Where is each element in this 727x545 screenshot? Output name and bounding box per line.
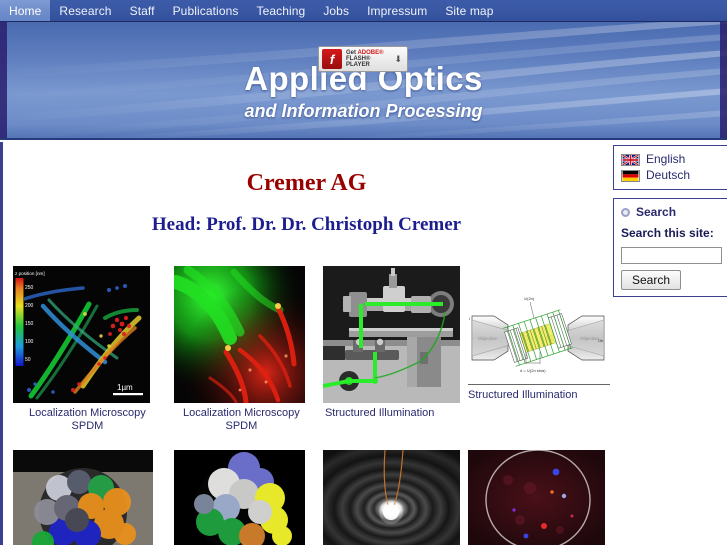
svg-text:λ/(2n): λ/(2n) <box>524 296 535 301</box>
page-root: Home Research Staff Publications Teachin… <box>0 0 727 545</box>
search-input[interactable] <box>621 247 722 264</box>
nav-item-home[interactable]: Home <box>0 0 50 21</box>
nav-item-site-map[interactable]: Site map <box>436 0 502 21</box>
sidebar: English Deutsch Search Search this site: <box>613 145 727 305</box>
language-label-deutsch: Deutsch <box>646 168 690 183</box>
language-option-deutsch[interactable]: Deutsch <box>621 168 722 183</box>
svg-text:250: 250 <box>25 285 34 291</box>
search-field-label: Search this site: <box>621 226 722 240</box>
svg-text:100: 100 <box>25 339 34 345</box>
banner-subtitle: and Information Processing <box>244 101 482 122</box>
top-navigation-bar: Home Research Staff Publications Teachin… <box>0 0 727 22</box>
cell-nucleus-signals-image[interactable] <box>468 450 605 545</box>
get-adobe-flash-player-badge[interactable]: f Get ADOBE® FLASH® PLAYER ⬇ <box>318 46 408 72</box>
language-switcher-box: English Deutsch <box>613 145 727 190</box>
localization-microscopy-spdm-image[interactable]: z position [nm] 250 200 150 100 50 1µm <box>13 266 150 403</box>
banner-text-block: Applied Optics and Information Processin… <box>0 22 727 140</box>
structured-illumination-setup-render[interactable] <box>323 266 460 403</box>
site-banner: Applied Optics and Information Processin… <box>0 22 727 140</box>
structured-illumination-schematic[interactable]: Objective Objective <box>468 292 608 384</box>
search-heading-label: Search <box>636 205 676 219</box>
radio-dot-icon <box>621 208 630 217</box>
nav-item-staff[interactable]: Staff <box>121 0 164 21</box>
nav-item-impressum[interactable]: Impressum <box>358 0 436 21</box>
flash-badge-line2: FLASH® PLAYER <box>346 56 394 69</box>
svg-text:200: 200 <box>25 303 34 309</box>
svg-text:d = λ/(2n sinα): d = λ/(2n sinα) <box>520 368 546 373</box>
gallery-row-2 <box>3 450 610 545</box>
gallery-item-4[interactable]: Objective Objective <box>468 266 610 433</box>
adobe-brand-text: ADOBE® <box>357 50 383 56</box>
gallery-item-3[interactable]: Structured Illumination <box>323 266 460 433</box>
dual-color-fluorescence-image[interactable] <box>174 266 305 403</box>
gallery-caption-3: Structured Illumination <box>323 407 460 420</box>
main-column: Cremer AG Head: Prof. Dr. Dr. Christoph … <box>3 142 610 545</box>
svg-text:50: 50 <box>25 357 31 363</box>
gallery-row-1: z position [nm] 250 200 150 100 50 1µm L… <box>3 266 610 433</box>
gallery-divider-4 <box>468 384 610 385</box>
language-label-english: English <box>646 152 685 167</box>
gallery-item-5[interactable] <box>13 450 162 545</box>
svg-text:150: 150 <box>25 321 34 327</box>
gallery-item-8[interactable] <box>468 450 610 545</box>
gallery-item-7[interactable] <box>323 450 460 545</box>
search-box-heading: Search <box>621 205 722 219</box>
german-flag-icon <box>621 170 640 182</box>
gallery-item-1[interactable]: z position [nm] 250 200 150 100 50 1µm L… <box>13 266 162 433</box>
search-button[interactable]: Search <box>621 270 681 290</box>
page-title: Cremer AG <box>3 170 610 197</box>
protein-structure-render-1[interactable] <box>13 450 153 545</box>
protein-structure-render-2[interactable] <box>174 450 305 545</box>
airy-diffraction-pattern[interactable] <box>323 450 460 545</box>
gallery-caption-4: Structured Illumination <box>468 389 610 402</box>
content-area: Cremer AG Head: Prof. Dr. Dr. Christoph … <box>0 142 727 545</box>
search-box: Search Search this site: Search <box>613 198 727 297</box>
nav-item-publications[interactable]: Publications <box>164 0 248 21</box>
gallery-caption-2: Localization Microscopy SPDM <box>174 407 309 433</box>
nav-item-jobs[interactable]: Jobs <box>314 0 358 21</box>
uk-flag-icon <box>621 154 640 166</box>
gallery-item-6[interactable] <box>174 450 309 545</box>
page-subtitle: Head: Prof. Dr. Dr. Christoph Cremer <box>3 214 610 236</box>
gallery-item-2[interactable]: Localization Microscopy SPDM <box>174 266 309 433</box>
download-arrow-icon: ⬇ <box>394 54 404 65</box>
flash-icon: f <box>322 49 342 69</box>
svg-text:1µm: 1µm <box>117 383 133 392</box>
svg-text:z position [nm]: z position [nm] <box>15 271 45 276</box>
svg-text:Ob: Ob <box>598 338 604 343</box>
language-option-english[interactable]: English <box>621 152 722 167</box>
svg-text:I: I <box>469 316 470 321</box>
nav-item-teaching[interactable]: Teaching <box>247 0 314 21</box>
gallery-caption-1: Localization Microscopy SPDM <box>13 407 162 433</box>
flash-badge-text: Get ADOBE® FLASH® PLAYER <box>346 50 394 69</box>
nav-item-research[interactable]: Research <box>50 0 120 21</box>
